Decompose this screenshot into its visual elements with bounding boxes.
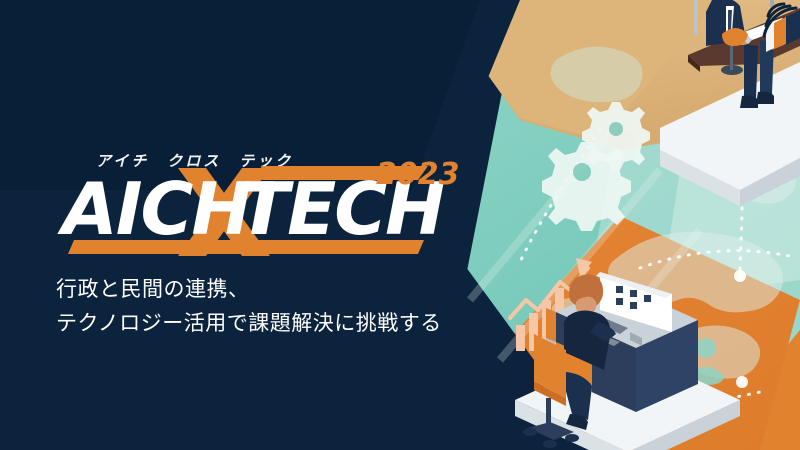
leg xyxy=(744,44,758,98)
connection-node xyxy=(734,270,746,282)
gear-icon-small xyxy=(582,102,650,170)
background-artwork xyxy=(0,0,800,450)
shoe xyxy=(756,92,774,105)
desk-accent xyxy=(546,308,556,342)
shoe xyxy=(740,96,758,109)
poster-canvas: アイチ クロス テック AICHI TECH 2023 行政と民間の連携、 テク… xyxy=(0,0,800,450)
navy-wedge-shade xyxy=(0,0,480,190)
desk-leg xyxy=(694,0,698,35)
connection-node xyxy=(736,376,748,388)
